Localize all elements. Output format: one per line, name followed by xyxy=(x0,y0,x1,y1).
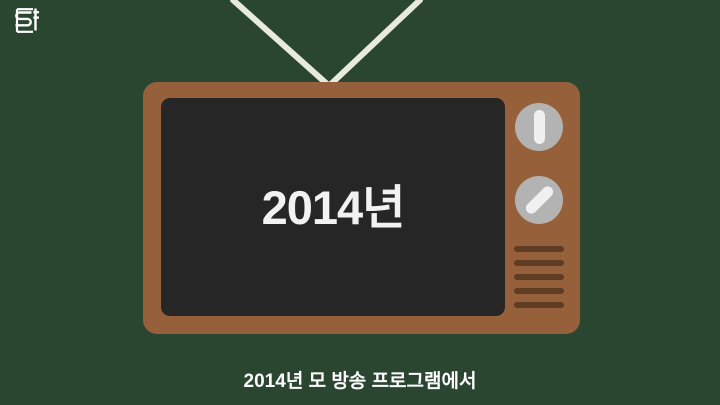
scene-canvas: 2014년 2014년 모 방송 프로그램에서 xyxy=(0,0,720,405)
tv-speaker-grille xyxy=(514,246,564,316)
speaker-slat xyxy=(514,274,564,280)
speaker-slat xyxy=(514,288,564,294)
knob-indicator-icon xyxy=(524,184,556,216)
speaker-slat xyxy=(514,302,564,308)
speaker-slat xyxy=(514,260,564,266)
tv-knob-2[interactable] xyxy=(515,176,563,224)
tv-screen-text: 2014년 xyxy=(262,184,405,231)
speaker-slat xyxy=(514,246,564,252)
tv-screen: 2014년 xyxy=(161,98,505,316)
caption-subtitle: 2014년 모 방송 프로그램에서 xyxy=(0,366,720,393)
knob-indicator-icon xyxy=(534,110,545,144)
s-monogram-logo-icon xyxy=(9,4,43,38)
television-set: 2014년 xyxy=(143,82,580,334)
tv-control-panel xyxy=(513,98,563,316)
tv-knob-1[interactable] xyxy=(515,103,563,151)
